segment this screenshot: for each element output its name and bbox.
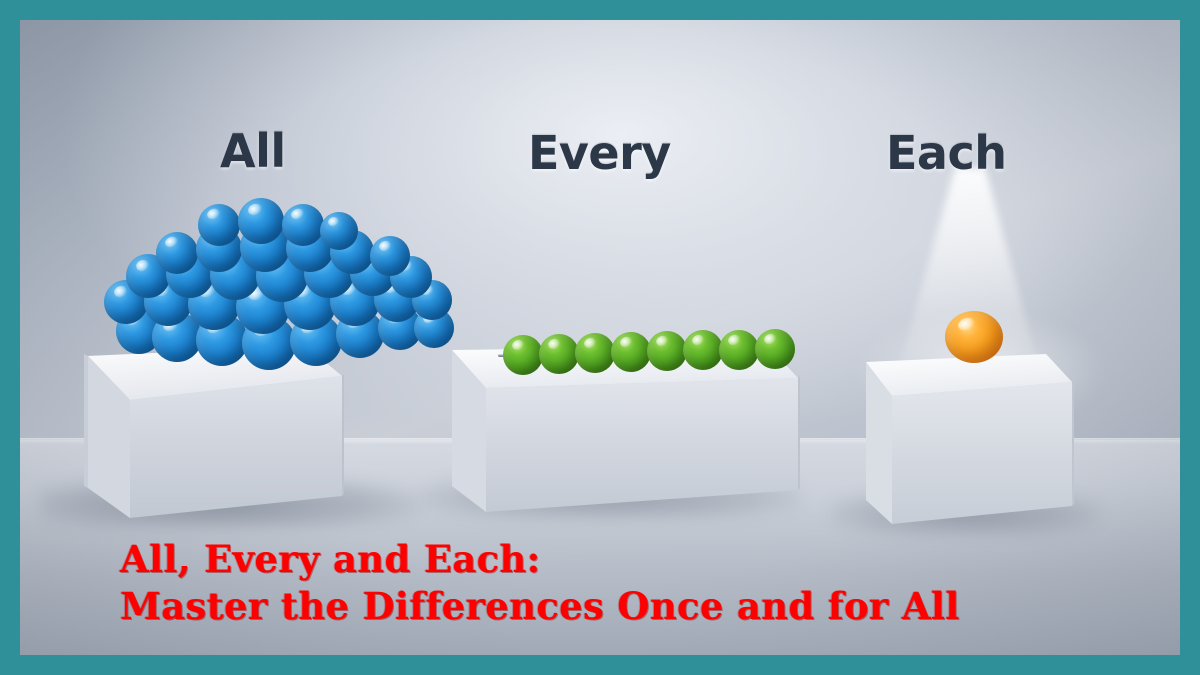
green-sphere (575, 333, 615, 373)
illustration-stage: All Every Each All, Every and Each: Mast… (0, 0, 1200, 675)
blue-sphere (370, 236, 410, 276)
green-sphere (647, 331, 687, 371)
label-every: Every (528, 130, 671, 176)
caption-line-2: Master the Differences Once and for All (120, 583, 960, 630)
blue-sphere (238, 198, 284, 244)
scene: All Every Each All, Every and Each: Mast… (20, 20, 1180, 655)
green-sphere (683, 330, 723, 370)
label-all: All (220, 128, 286, 174)
blue-sphere (320, 212, 358, 250)
green-sphere (539, 334, 579, 374)
green-sphere (755, 329, 795, 369)
blue-sphere (198, 204, 240, 246)
pedestal-each (840, 338, 1090, 538)
blue-sphere (282, 204, 324, 246)
label-each: Each (886, 130, 1006, 176)
green-sphere (503, 335, 543, 375)
green-sphere (611, 332, 651, 372)
blue-sphere (156, 232, 198, 274)
caption-line-1: All, Every and Each: (120, 536, 960, 583)
orange-sphere (945, 311, 1003, 363)
caption-block: All, Every and Each: Master the Differen… (120, 536, 960, 629)
green-sphere (719, 330, 759, 370)
